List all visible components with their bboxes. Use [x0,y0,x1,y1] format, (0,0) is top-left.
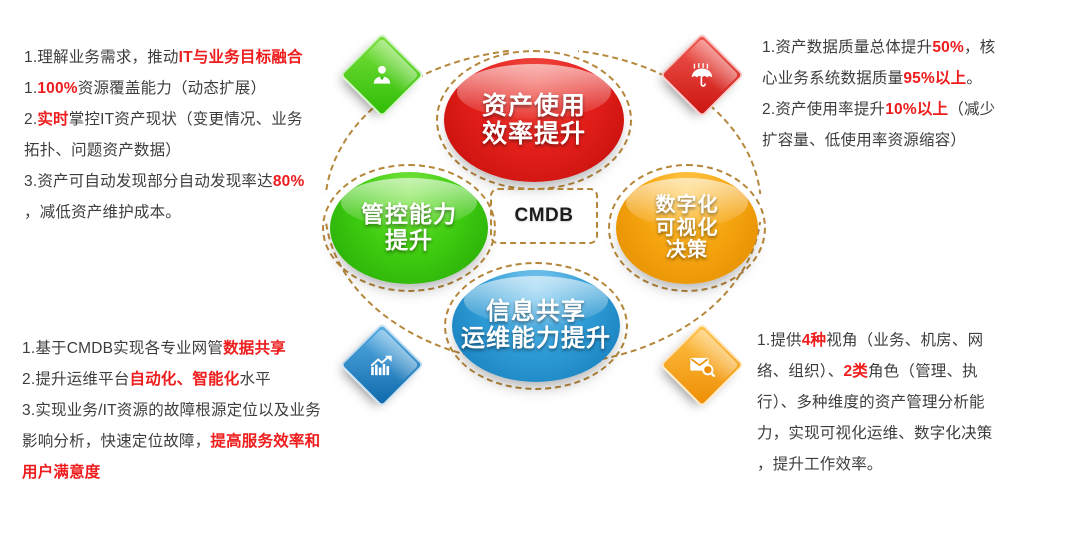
plain-text: 1.基于CMDB实现各专业网管 [22,340,223,357]
diagram-canvas: 1.理解业务需求，推动IT与业务目标融合1.100%资源覆盖能力（动态扩展）2.… [0,0,1080,535]
text-line: 行）、多种维度的资产管理分析能 [757,387,993,418]
highlight-text: 100% [37,80,77,97]
text-line: 1.100%资源覆盖能力（动态扩展） [24,73,304,104]
plain-text: 1.资产数据质量总体提升 [762,39,932,56]
highlight-text: 4种 [802,332,827,349]
highlight-text: 自动化、智能化 [130,371,240,388]
plain-text: 2.提升运维平台 [22,371,130,388]
text-line: 2.资产使用率提升10%以上（减少 [762,94,995,125]
bubble-information-sharing-ops[interactable]: 信息共享运维能力提升 [452,270,620,382]
plain-text: 1. [24,80,37,97]
text-line: 用户满意度 [22,457,321,488]
plain-text: 行）、多种维度的资产管理分析能 [757,394,985,411]
plain-text: 1.理解业务需求，推动 [24,49,179,66]
text-line: 扩容量、低使用率资源缩容） [762,125,995,156]
plain-text: 力，实现可视化运维、数字化决策 [757,425,993,442]
plain-text: 心业务系统数据质量 [762,70,903,87]
bar-chart-growth-icon [369,352,396,379]
plain-text: （减少 [948,101,995,118]
plain-text: 影响分析，快速定位故障， [22,433,210,450]
text-line: 2.提升运维平台自动化、智能化水平 [22,364,321,395]
text-block-top-left: 1.理解业务需求，推动IT与业务目标融合1.100%资源覆盖能力（动态扩展）2.… [24,42,304,228]
user-icon [369,62,395,88]
umbrella-icon [689,62,715,88]
highlight-text: 数据共享 [223,340,286,357]
highlight-text: 提高服务效率和 [210,433,320,450]
text-line: 3.实现业务/IT资源的故障根源定位以及业务 [22,395,321,426]
center-cmdb-tag: CMDB [490,188,598,244]
plain-text: 资源覆盖能力（动态扩展） [78,80,266,97]
bubble-control-capability[interactable]: 管控能力提升 [330,172,488,284]
plain-text: 扩容量、低使用率资源缩容） [762,132,966,149]
plain-text: 3.实现业务/IT资源的故障根源定位以及业务 [22,402,321,419]
bubble-red-label: 资产使用效率提升 [482,92,586,148]
highlight-text: 50% [932,39,964,56]
text-line: 1.基于CMDB实现各专业网管数据共享 [22,333,321,364]
plain-text: 2.资产使用率提升 [762,101,885,118]
text-line: ，提升工作效率。 [757,449,993,480]
bubble-green-label: 管控能力提升 [361,202,457,254]
text-line: ，减低资产维护成本。 [24,197,304,228]
plain-text: ，核 [964,39,995,56]
bubble-asset-usage-efficiency[interactable]: 资产使用效率提升 [444,58,624,182]
bubble-blue-label: 信息共享运维能力提升 [452,299,620,353]
text-line: 心业务系统数据质量95%以上。 [762,63,995,94]
plain-text: 拓扑、问题资产数据） [24,142,181,159]
highlight-text: IT与业务目标融合 [179,49,303,66]
text-line: 2.实时掌控IT资产现状（变更情况、业务 [24,104,304,135]
plain-text: 掌控IT资产现状（变更情况、业务 [69,111,303,128]
plain-text: 3.资产可自动发现部分自动发现率达 [24,173,273,190]
text-line: 力，实现可视化运维、数字化决策 [757,418,993,449]
text-block-bottom-right: 1.提供4种视角（业务、机房、网络、组织）、2类角色（管理、执行）、多种维度的资… [757,325,993,480]
highlight-text: 用户满意度 [22,464,101,481]
plain-text: 角色（管理、执 [868,363,978,380]
bubble-digital-visualization-decision[interactable]: 数字化可视化决策 [616,172,758,284]
plain-text: ，减低资产维护成本。 [24,204,181,221]
center-cmdb-label: CMDB [515,205,574,227]
highlight-text: 95%以上 [903,70,966,87]
text-line: 拓扑、问题资产数据） [24,135,304,166]
text-line: 1.理解业务需求，推动IT与业务目标融合 [24,42,304,73]
text-line: 1.提供4种视角（业务、机房、网 [757,325,993,356]
plain-text: 水平 [239,371,270,388]
plain-text: 2. [24,111,37,128]
text-line: 影响分析，快速定位故障，提高服务效率和 [22,426,321,457]
highlight-text: 实时 [37,111,68,128]
plain-text: ，提升工作效率。 [757,456,883,473]
mail-search-icon [689,352,716,379]
plain-text: 视角（业务、机房、网 [826,332,983,349]
bubble-orange-label: 数字化可视化决策 [656,194,719,261]
highlight-text: 80% [273,173,305,190]
text-block-top-right: 1.资产数据质量总体提升50%，核心业务系统数据质量95%以上。2.资产使用率提… [762,32,995,156]
plain-text: 。 [966,70,982,87]
highlight-text: 10%以上 [885,101,948,118]
text-line: 络、组织）、2类角色（管理、执 [757,356,993,387]
text-line: 3.资产可自动发现部分自动发现率达80% [24,166,304,197]
highlight-text: 2类 [843,363,868,380]
text-line: 1.资产数据质量总体提升50%，核 [762,32,995,63]
text-block-bottom-left: 1.基于CMDB实现各专业网管数据共享2.提升运维平台自动化、智能化水平3.实现… [22,333,321,488]
